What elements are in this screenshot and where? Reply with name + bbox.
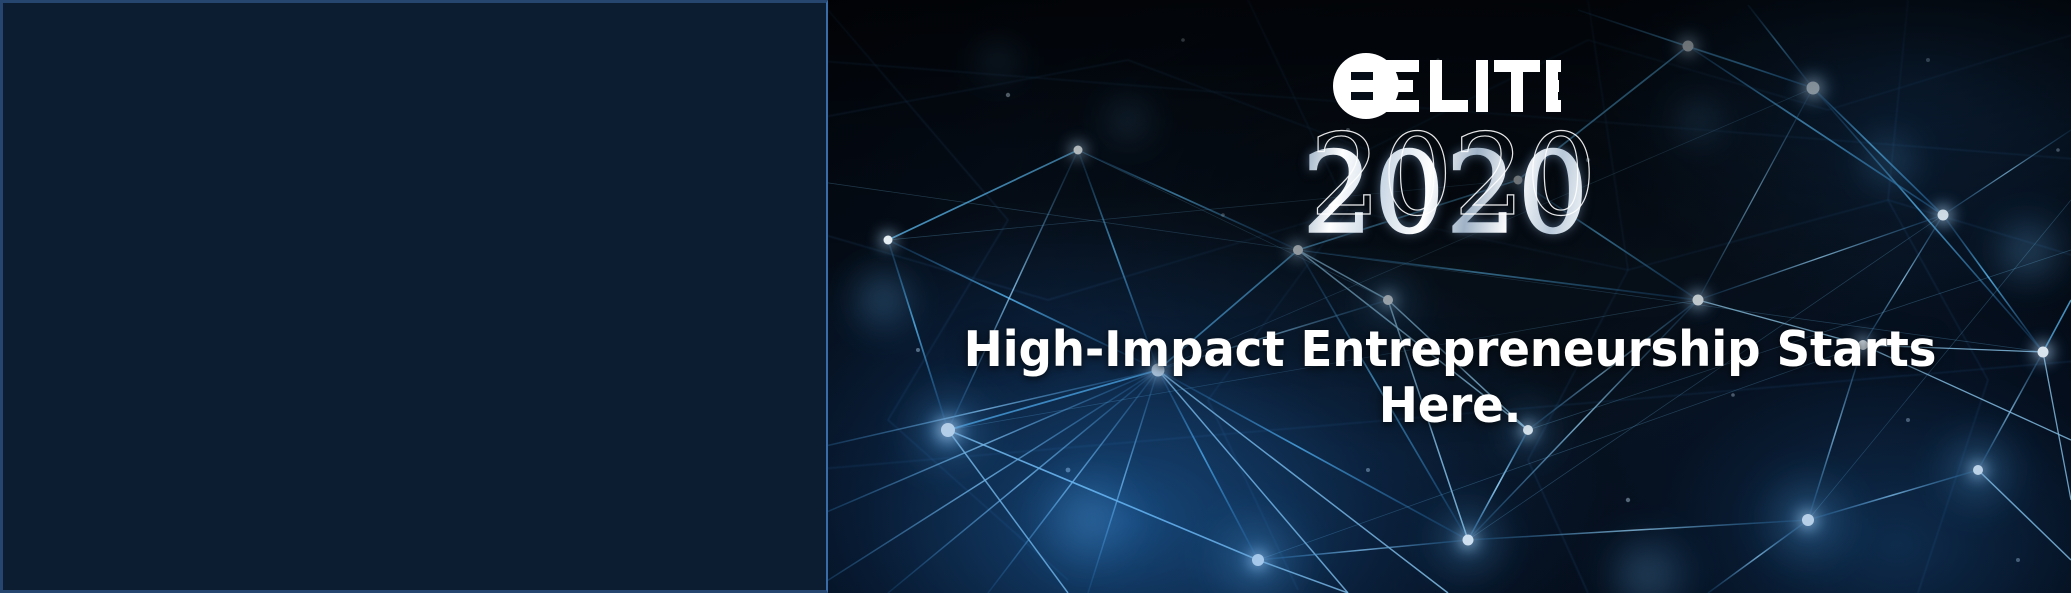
elite-logo bbox=[1333, 52, 1561, 120]
hero-content: 2020 2020 High-Impact Entrepreneurship S… bbox=[828, 0, 2071, 593]
year-wrap: 2020 2020 bbox=[1310, 120, 1589, 250]
headline-line-1: High-Impact Entrepreneurship Starts bbox=[963, 321, 1936, 378]
elite-wordmark bbox=[1373, 60, 1561, 112]
empty-navy-panel bbox=[0, 0, 828, 593]
hero-banner: 2020 2020 High-Impact Entrepreneurship S… bbox=[828, 0, 2071, 593]
year-label: 2020 bbox=[1302, 138, 1589, 250]
hero-headline: High-Impact Entrepreneurship Starts Here… bbox=[943, 322, 1955, 434]
headline-line-2: Here. bbox=[1378, 377, 1521, 434]
banner-root: 2020 2020 High-Impact Entrepreneurship S… bbox=[0, 0, 2071, 593]
